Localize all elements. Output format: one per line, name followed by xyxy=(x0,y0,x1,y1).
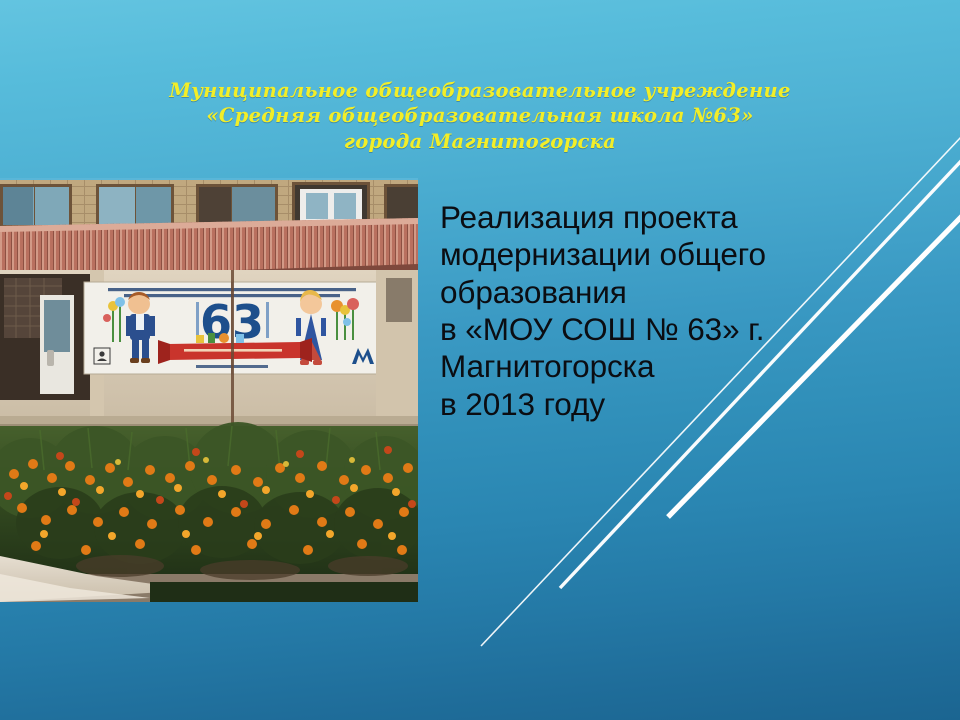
presentation-slide: Муниципальное общеобразовательное учрежд… xyxy=(0,0,960,720)
school-building-photo: 63 xyxy=(0,178,418,602)
photo-entrance xyxy=(0,274,96,400)
slide-header: Муниципальное общеобразовательное учрежд… xyxy=(0,78,960,154)
header-line-3: города Магнитогорска xyxy=(0,129,960,154)
body-line-4: в «МОУ СОШ № 63» г. xyxy=(440,311,940,348)
body-line-2: модернизации общего xyxy=(440,236,940,273)
photo-pole xyxy=(231,270,234,430)
body-line-3: образования xyxy=(440,274,940,311)
body-line-1: Реализация проекта xyxy=(440,199,940,236)
body-line-5: Магнитогорска xyxy=(440,348,940,385)
header-line-2: «Средняя общеобразовательная школа №63» xyxy=(0,103,960,128)
header-line-1: Муниципальное общеобразовательное учрежд… xyxy=(0,78,960,103)
body-line-6: в 2013 году xyxy=(440,386,940,423)
photo-flower-bed xyxy=(0,422,418,580)
slide-body-text: Реализация проекта модернизации общего о… xyxy=(440,199,940,423)
